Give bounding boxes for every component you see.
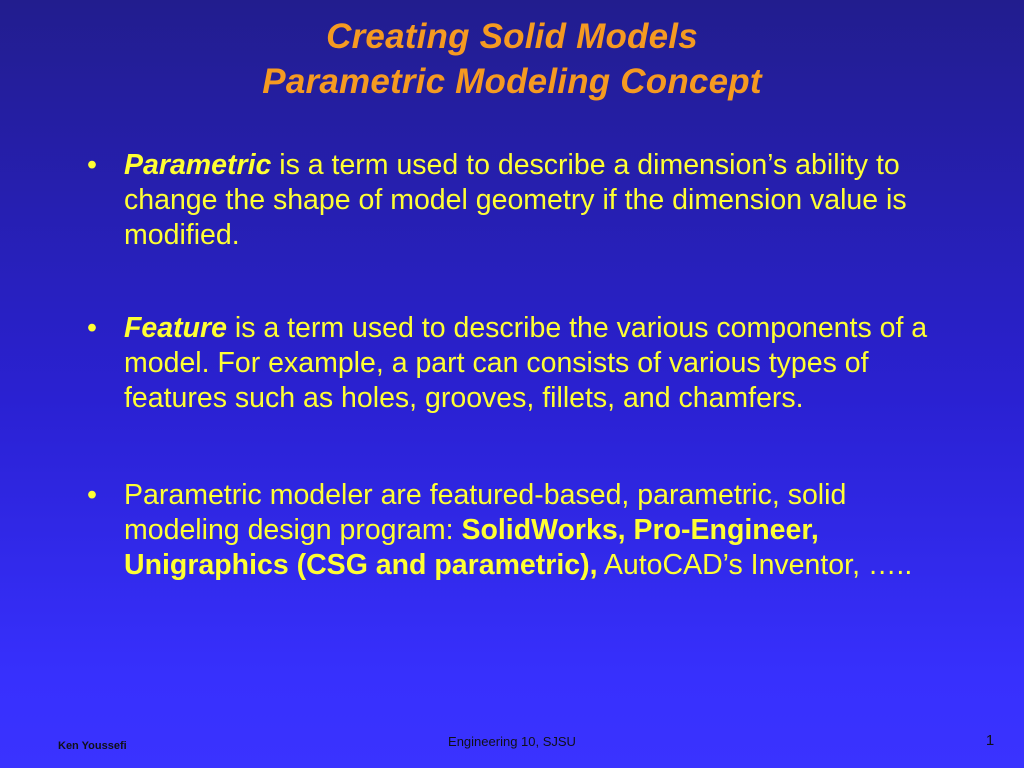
bullet-body-modelers-tail: AutoCAD’s Inventor, ….. (598, 549, 913, 581)
bullet-spacer-1 (78, 253, 946, 311)
bullet-item-modelers: • Parametric modeler are featured-based,… (78, 478, 946, 583)
title-line-2: Parametric Modeling Concept (0, 59, 1024, 104)
bullet-item-parametric: • Parametric is a term used to describe … (78, 148, 946, 253)
bullet-spacer-2 (78, 416, 946, 478)
slide-footer: Ken Youssefi Engineering 10, SJSU 1 (0, 724, 1024, 768)
bullet-item-feature: • Feature is a term used to describe the… (78, 311, 946, 416)
bullet-text-parametric: Parametric is a term used to describe a … (124, 148, 940, 253)
bullet-text-modelers: Parametric modeler are featured-based, p… (124, 478, 940, 583)
bullet-keyword-parametric: Parametric (124, 149, 271, 181)
bullet-marker-icon: • (78, 148, 124, 183)
bullet-marker-icon: • (78, 478, 124, 513)
bullet-text-feature: Feature is a term used to describe the v… (124, 311, 940, 416)
footer-course: Engineering 10, SJSU (0, 734, 1024, 749)
slide-body: • Parametric is a term used to describe … (78, 148, 946, 583)
bullet-keyword-feature: Feature (124, 312, 227, 344)
footer-page-number: 1 (956, 732, 1024, 749)
bullet-marker-icon: • (78, 311, 124, 346)
bullet-body-feature: is a term used to describe the various c… (124, 312, 927, 414)
slide-canvas: Creating Solid Models Parametric Modelin… (0, 0, 1024, 768)
title-line-1: Creating Solid Models (0, 14, 1024, 59)
page-title: Creating Solid Models Parametric Modelin… (0, 14, 1024, 104)
